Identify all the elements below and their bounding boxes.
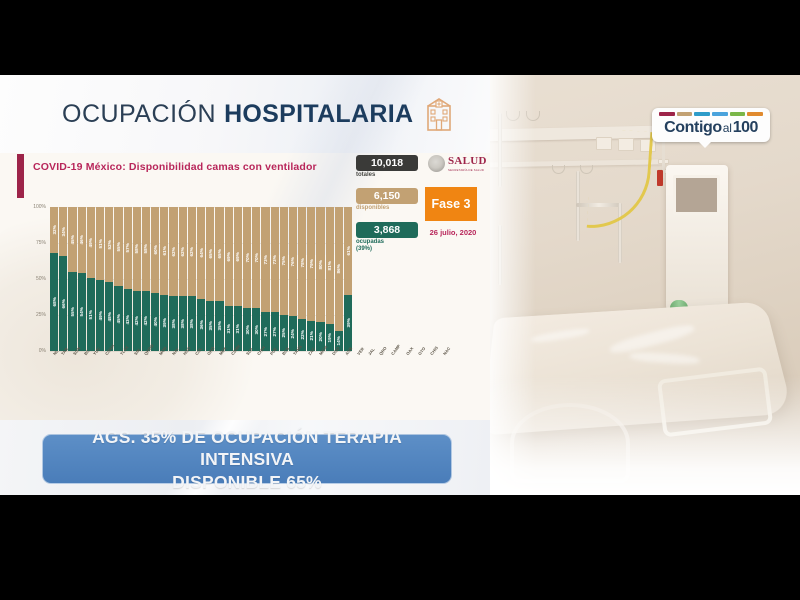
bar-column: 64%36%	[197, 207, 205, 351]
bar-column: 62%38%	[188, 207, 196, 351]
bar-label-disponibilidad: 62%	[180, 247, 185, 257]
bar-segment-ocupacion: 30%	[243, 308, 251, 351]
bar-label-disponibilidad: 45%	[70, 235, 75, 245]
bar-label-disponibilidad: 69%	[226, 252, 231, 262]
contigo-word-1: Contigo	[664, 119, 722, 137]
bar-segment-disponibilidad: 52%	[105, 207, 113, 282]
bar-label-disponibilidad: 61%	[162, 246, 167, 256]
bar-label-ocupacion: 30%	[254, 325, 259, 335]
bar-label-ocupacion: 38%	[189, 319, 194, 329]
bar-column: 49%51%	[87, 207, 95, 351]
bar-segment-disponibilidad: 46%	[78, 207, 86, 273]
bar-segment-ocupacion: 43%	[124, 289, 132, 351]
lower-third-line-1: AGS. 35% DE OCUPACIÓN TERAPIA	[92, 427, 402, 447]
y-axis-tick: 100%	[33, 204, 46, 210]
bar-segment-disponibilidad: 70%	[243, 207, 251, 308]
contigo-al-100-logo: Contigo al 100	[652, 108, 770, 142]
bar-label-ocupacion: 19%	[327, 333, 332, 343]
y-axis-tick: 75%	[36, 240, 46, 246]
bar-column: 51%49%	[96, 207, 104, 351]
bar-segment-ocupacion: 31%	[225, 306, 233, 351]
video-frame: OCUPACIÓN HOSPITALARIA COVID-19 México: …	[0, 0, 800, 600]
bar-column: 65%35%	[215, 207, 223, 351]
bar-column: 32%68%	[50, 207, 58, 351]
emergency-switch	[657, 170, 663, 186]
bar-column: 76%24%	[289, 207, 297, 351]
bar-label-ocupacion: 31%	[235, 324, 240, 334]
bar-segment-ocupacion: 45%	[114, 286, 122, 351]
bar-label-ocupacion: 55%	[70, 307, 75, 317]
logo-stripe	[677, 112, 693, 116]
bar-segment-disponibilidad: 62%	[169, 207, 177, 296]
letterbox-bottom	[0, 495, 800, 600]
bar-segment-ocupacion: 66%	[59, 256, 67, 351]
bar-segment-disponibilidad: 75%	[280, 207, 288, 315]
bar-segment-disponibilidad: 73%	[261, 207, 269, 312]
bar-column: 73%27%	[261, 207, 269, 351]
bar-column: 78%22%	[298, 207, 306, 351]
bar-segment-ocupacion: 42%	[142, 291, 150, 351]
bar-segment-disponibilidad: 45%	[68, 207, 76, 272]
page-title-light: OCUPACIÓN	[62, 100, 216, 129]
bar-segment-ocupacion: 24%	[289, 316, 297, 351]
logo-stripe	[712, 112, 728, 116]
bar-segment-disponibilidad: 32%	[50, 207, 58, 253]
bar-segment-disponibilidad: 62%	[188, 207, 196, 296]
bar-label-disponibilidad: 64%	[199, 248, 204, 258]
bar-segment-ocupacion: 36%	[197, 299, 205, 351]
bar-label-ocupacion: 48%	[107, 312, 112, 322]
bar-column: 45%55%	[68, 207, 76, 351]
bar-label-disponibilidad: 34%	[61, 227, 66, 237]
bar-segment-disponibilidad: 78%	[298, 207, 306, 319]
bar-column: 81%19%	[326, 207, 334, 351]
bar-segment-disponibilidad: 79%	[307, 207, 315, 321]
bar-segment-ocupacion: 49%	[96, 280, 104, 351]
bar-column: 70%30%	[252, 207, 260, 351]
page-title-bold: HOSPITALARIA	[224, 100, 413, 129]
bar-label-disponibilidad: 70%	[245, 253, 250, 263]
bar-label-disponibilidad: 65%	[217, 249, 222, 259]
bar-label-ocupacion: 49%	[98, 311, 103, 321]
bar-label-disponibilidad: 58%	[134, 244, 139, 254]
bar-label-ocupacion: 27%	[263, 327, 268, 337]
bar-label-ocupacion: 30%	[245, 325, 250, 335]
bar-segment-disponibilidad: 76%	[289, 207, 297, 316]
bar-label-disponibilidad: 70%	[254, 253, 259, 263]
hospital-icon	[422, 96, 456, 132]
bar-label-ocupacion: 39%	[346, 318, 351, 328]
bar-segment-disponibilidad: 57%	[124, 207, 132, 289]
bar-column: 62%38%	[169, 207, 177, 351]
occupied-beds-caption: ocupadas (39%)	[356, 239, 418, 253]
bar-label-ocupacion: 43%	[125, 315, 130, 325]
total-beds-caption: totales	[356, 172, 418, 179]
total-beds-chip: 10,018	[356, 155, 418, 171]
bar-column: 34%66%	[59, 207, 67, 351]
bar-label-ocupacion: 40%	[153, 317, 158, 327]
bar-segment-ocupacion: 48%	[105, 282, 113, 351]
salud-logo-text: SALUD	[448, 156, 487, 167]
chart-subtitle: COVID-19 México: Disponibilidad camas co…	[33, 161, 317, 173]
contigo-logo-stripes	[659, 112, 763, 116]
bar-column: 46%54%	[78, 207, 86, 351]
bar-label-disponibilidad: 60%	[153, 245, 158, 255]
bar-label-disponibilidad: 79%	[309, 259, 314, 269]
bar-segment-ocupacion: 68%	[50, 253, 58, 351]
contigo-word-2: al	[723, 121, 732, 135]
salud-logo: SALUD SECRETARÍA DE SALUD	[428, 155, 487, 172]
bar-label-ocupacion: 66%	[61, 299, 66, 309]
bar-label-ocupacion: 68%	[52, 297, 57, 307]
chart-plot-area: 0%25%50%75%100% 32%68%34%66%45%55%46%54%…	[50, 207, 352, 351]
bar-segment-ocupacion: 35%	[206, 301, 214, 351]
bar-segment-ocupacion: 35%	[215, 301, 223, 351]
logo-stripe	[730, 112, 746, 116]
bar-segment-ocupacion: 39%	[160, 295, 168, 351]
bar-segment-disponibilidad: 65%	[206, 207, 214, 301]
bar-label-ocupacion: 54%	[79, 307, 84, 317]
sheet-fold	[531, 327, 590, 344]
bar-segment-disponibilidad: 86%	[335, 207, 343, 331]
bar-label-disponibilidad: 86%	[336, 264, 341, 274]
logo-stripe	[694, 112, 710, 116]
bar-segment-ocupacion: 27%	[271, 312, 279, 351]
salud-logo-subtext: SECRETARÍA DE SALUD	[448, 168, 487, 172]
bar-segment-disponibilidad: 60%	[151, 207, 159, 293]
occupied-beds-chip: 3,868	[356, 222, 418, 238]
bar-label-disponibilidad: 32%	[52, 225, 57, 235]
bar-column: 58%42%	[142, 207, 150, 351]
y-axis-tick: 50%	[36, 276, 46, 282]
contigo-logo-box: Contigo al 100	[652, 108, 770, 142]
bar-label-ocupacion: 38%	[180, 319, 185, 329]
bar-segment-disponibilidad: 69%	[234, 207, 242, 306]
bar-label-ocupacion: 20%	[318, 332, 323, 342]
lower-third-line-3: DISPONIBLE 65%	[172, 472, 322, 492]
contigo-logo-tail	[698, 141, 712, 148]
summary-stats: 10,018 totales 6,150 disponibles 3,868 o…	[356, 155, 418, 253]
bar-label-disponibilidad: 73%	[272, 255, 277, 265]
bar-segment-ocupacion: 54%	[78, 273, 86, 351]
bar-column: 73%27%	[271, 207, 279, 351]
available-beds-value: 6,150	[356, 190, 418, 202]
bar-column: 70%30%	[243, 207, 251, 351]
bar-label-disponibilidad: 76%	[290, 257, 295, 267]
bar-segment-ocupacion: 38%	[179, 296, 187, 351]
bar-segment-disponibilidad: 61%	[160, 207, 168, 295]
bar-segment-disponibilidad: 58%	[133, 207, 141, 291]
bar-label-disponibilidad: 62%	[189, 247, 194, 257]
bar-column: 61%39%	[344, 207, 352, 351]
bar-segment-ocupacion: 55%	[68, 272, 76, 351]
bar-label-ocupacion: 35%	[208, 321, 213, 331]
stacked-bar-chart: 0%25%50%75%100% 32%68%34%66%45%55%46%54%…	[22, 203, 352, 428]
bar-label-ocupacion: 27%	[272, 327, 277, 337]
bar-column: 57%43%	[124, 207, 132, 351]
bar-segment-disponibilidad: 49%	[87, 207, 95, 278]
bar-label-disponibilidad: 65%	[208, 249, 213, 259]
lower-third-banner: AGS. 35% DE OCUPACIÓN TERAPIA INTENSIVA …	[0, 420, 490, 495]
bar-label-disponibilidad: 52%	[107, 240, 112, 250]
letterbox-top	[0, 0, 800, 75]
bar-column: 55%45%	[114, 207, 122, 351]
fase-badge: Fase 3	[425, 187, 477, 221]
bar-segment-disponibilidad: 61%	[344, 207, 352, 295]
bar-segment-disponibilidad: 73%	[271, 207, 279, 312]
bar-label-disponibilidad: 61%	[346, 246, 351, 256]
bar-label-disponibilidad: 55%	[116, 242, 121, 252]
bar-column: 52%48%	[105, 207, 113, 351]
y-axis-tick: 25%	[36, 312, 46, 318]
bar-segment-disponibilidad: 58%	[142, 207, 150, 291]
y-axis-tick: 0%	[39, 348, 46, 354]
bar-label-ocupacion: 24%	[290, 329, 295, 339]
bar-label-ocupacion: 42%	[134, 316, 139, 326]
bar-label-ocupacion: 45%	[116, 314, 121, 324]
bar-segment-ocupacion: 38%	[188, 296, 196, 351]
bar-column: 58%42%	[133, 207, 141, 351]
lower-third-line-2: INTENSIVA	[200, 449, 294, 469]
bar-label-disponibilidad: 46%	[79, 235, 84, 245]
bar-column: 75%25%	[280, 207, 288, 351]
bar-label-ocupacion: 36%	[199, 320, 204, 330]
chart-x-axis-labels: NLTABSONBCYUCCOAHTLAXSINQROOMORNAYHGOCOL…	[50, 353, 352, 379]
sheet-fold	[629, 351, 699, 365]
occupied-beds-percent: (39%)	[356, 246, 372, 252]
slide-header: OCUPACIÓN HOSPITALARIA	[0, 75, 490, 153]
bar-segment-disponibilidad: 64%	[197, 207, 205, 299]
bar-label-ocupacion: 35%	[217, 321, 222, 331]
bar-column: 69%31%	[225, 207, 233, 351]
bar-label-disponibilidad: 78%	[300, 258, 305, 268]
contigo-logo-wordmark: Contigo al 100	[659, 119, 763, 137]
bar-label-ocupacion: 14%	[336, 336, 341, 346]
bar-column: 79%21%	[307, 207, 315, 351]
bar-segment-ocupacion: 38%	[169, 296, 177, 351]
bar-column: 80%20%	[316, 207, 324, 351]
photo-bottom-fade	[490, 375, 800, 495]
bar-segment-ocupacion: 40%	[151, 293, 159, 351]
bar-column: 65%35%	[206, 207, 214, 351]
bar-segment-ocupacion: 30%	[252, 308, 260, 351]
bar-column: 60%40%	[151, 207, 159, 351]
bar-segment-disponibilidad: 69%	[225, 207, 233, 306]
bar-segment-disponibilidad: 62%	[179, 207, 187, 296]
bar-label-ocupacion: 31%	[226, 324, 231, 334]
bar-label-ocupacion: 21%	[309, 331, 314, 341]
logo-stripe	[659, 112, 675, 116]
bar-column: 69%31%	[234, 207, 242, 351]
bar-label-ocupacion: 51%	[88, 310, 93, 320]
bar-label-disponibilidad: 73%	[263, 255, 268, 265]
bar-label-disponibilidad: 57%	[125, 243, 130, 253]
bar-label-disponibilidad: 49%	[88, 238, 93, 248]
lower-third-text: AGS. 35% DE OCUPACIÓN TERAPIA INTENSIVA …	[42, 426, 452, 493]
bar-segment-disponibilidad: 80%	[316, 207, 324, 322]
bar-segment-disponibilidad: 70%	[252, 207, 260, 308]
bar-label-disponibilidad: 81%	[327, 261, 332, 271]
bar-column: 61%39%	[160, 207, 168, 351]
bar-label-disponibilidad: 75%	[281, 256, 286, 266]
bar-segment-ocupacion: 51%	[87, 278, 95, 351]
available-beds-chip: 6,150	[356, 188, 418, 204]
bar-label-ocupacion: 22%	[300, 330, 305, 340]
bar-label-ocupacion: 38%	[171, 319, 176, 329]
bar-label-ocupacion: 42%	[143, 316, 148, 326]
subtitle-accent-bar	[17, 154, 24, 198]
bar-segment-ocupacion: 42%	[133, 291, 141, 351]
occupied-beds-caption-text: ocupadas	[356, 239, 384, 245]
mexico-seal-icon	[428, 155, 445, 172]
bar-segment-ocupacion: 39%	[344, 295, 352, 351]
sheet-fold	[609, 322, 696, 356]
slide-date: 26 julio, 2020	[423, 228, 483, 237]
bar-label-ocupacion: 25%	[281, 328, 286, 338]
contigo-word-3: 100	[733, 119, 758, 137]
chart-bars: 32%68%34%66%45%55%46%54%49%51%51%49%52%4…	[50, 207, 352, 351]
bar-segment-disponibilidad: 55%	[114, 207, 122, 286]
bar-label-disponibilidad: 62%	[171, 247, 176, 257]
bar-label-disponibilidad: 58%	[143, 244, 148, 254]
occupied-beds-value: 3,868	[356, 224, 418, 236]
bar-segment-disponibilidad: 34%	[59, 207, 67, 256]
fase-badge-label: Fase 3	[432, 197, 471, 211]
bar-segment-disponibilidad: 81%	[326, 207, 334, 324]
bar-label-disponibilidad: 51%	[98, 239, 103, 249]
bar-column: 86%14%	[335, 207, 343, 351]
bar-label-ocupacion: 39%	[162, 318, 167, 328]
bar-label-disponibilidad: 80%	[318, 260, 323, 270]
bar-label-disponibilidad: 69%	[235, 252, 240, 262]
total-beds-value: 10,018	[356, 157, 418, 169]
ventilator-screen	[673, 175, 720, 215]
available-beds-caption: disponibles	[356, 205, 418, 212]
bar-segment-disponibilidad: 51%	[96, 207, 104, 280]
logo-stripe	[747, 112, 763, 116]
bar-column: 62%38%	[179, 207, 187, 351]
bar-segment-disponibilidad: 65%	[215, 207, 223, 301]
